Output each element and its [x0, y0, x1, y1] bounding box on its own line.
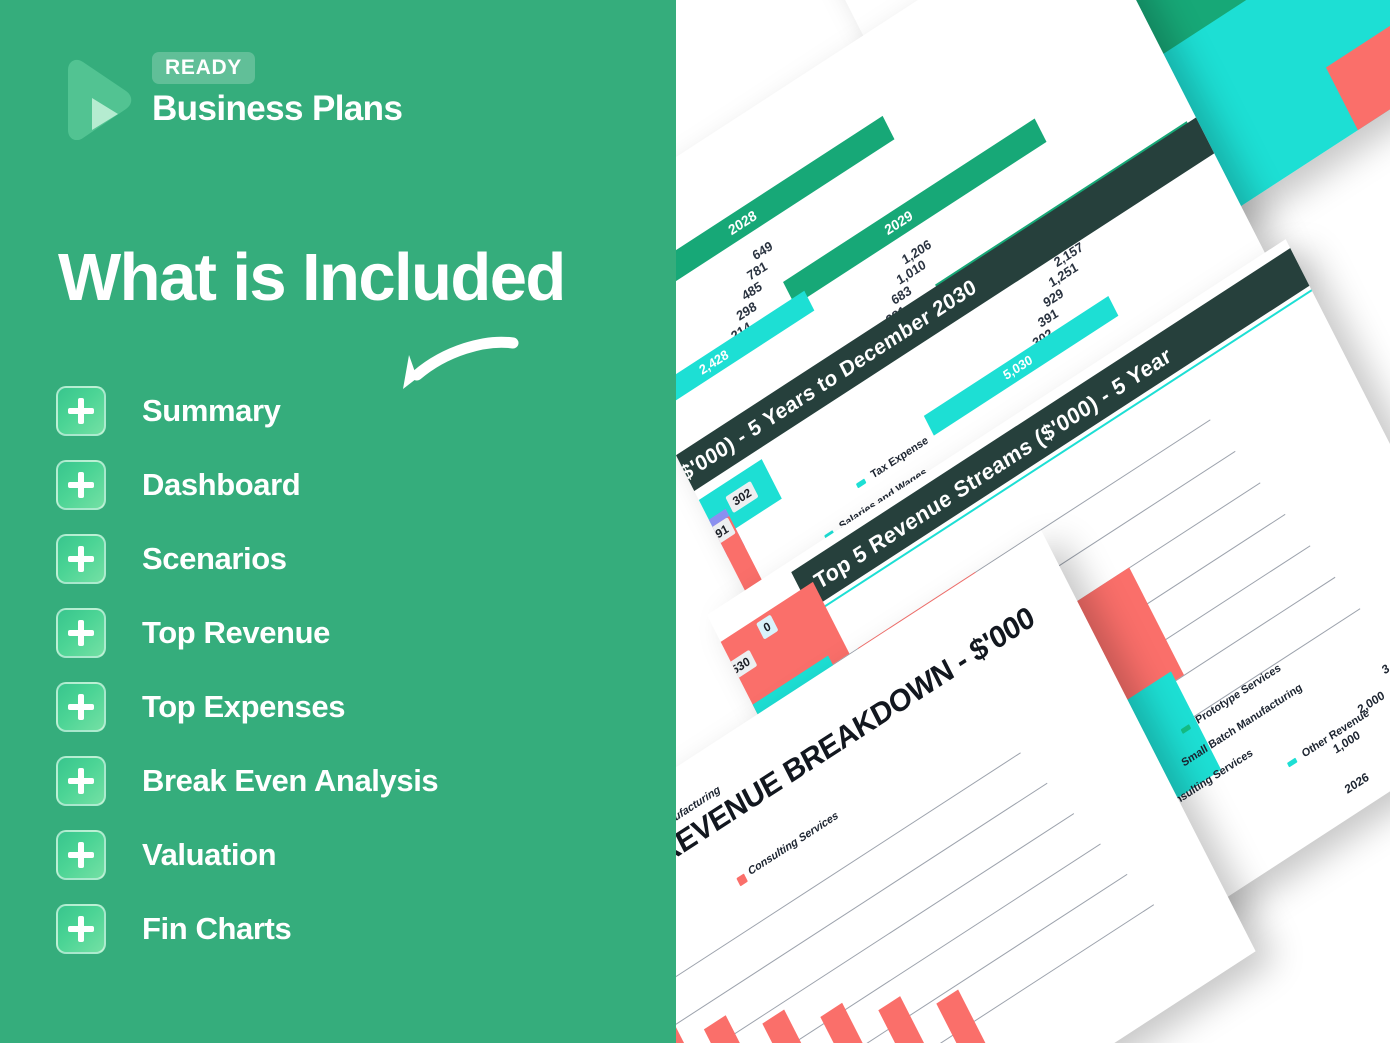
list-item[interactable]: Top Revenue	[56, 608, 656, 658]
poster-canvas: ame e of Contents 2028 2029 2030 649 781…	[0, 0, 1390, 1043]
page-title: What is Included	[58, 243, 618, 313]
legend-prototype-services: Prototype Services	[1194, 662, 1283, 727]
line-year-2026: 2026	[1342, 770, 1371, 797]
line-tick-2000: 2,000	[1355, 688, 1387, 717]
legend-marker-breakdown-consulting	[736, 873, 748, 886]
breakdown-bar-red-6	[820, 1003, 878, 1043]
plus-icon	[56, 608, 106, 658]
plus-icon	[56, 682, 106, 732]
brand-name: Business Plans	[152, 91, 402, 128]
list-item[interactable]: Top Expenses	[56, 682, 656, 732]
line-tick-3000: 3,000	[1380, 648, 1390, 677]
plus-icon	[56, 830, 106, 880]
list-item[interactable]: Break Even Analysis	[56, 756, 656, 806]
brand-logo[interactable]: READY Business Plans	[60, 52, 490, 152]
brand-text: READY Business Plans	[152, 52, 402, 128]
breakdown-bar-red-5	[762, 1009, 819, 1043]
list-item[interactable]: Summary	[56, 386, 656, 436]
plus-icon	[56, 534, 106, 584]
legend-marker-tax-expense	[856, 478, 867, 488]
list-item[interactable]: Valuation	[56, 830, 656, 880]
feature-label-top-expenses: Top Expenses	[142, 689, 345, 725]
legend-breakdown-consulting: Consulting Services	[746, 810, 840, 878]
list-item[interactable]: Fin Charts	[56, 904, 656, 954]
ready-badge: READY	[152, 52, 255, 84]
feature-label-fin-charts: Fin Charts	[142, 911, 291, 947]
plus-icon	[56, 460, 106, 510]
feature-label-summary: Summary	[142, 393, 281, 429]
feature-list: Summary Dashboard Scenarios Top Revenue …	[56, 386, 656, 978]
feature-label-valuation: Valuation	[142, 837, 276, 873]
plus-icon	[56, 386, 106, 436]
feature-label-scenarios: Scenarios	[142, 541, 287, 577]
legend-marker-other-revenue	[1287, 758, 1298, 768]
left-green-panel: READY Business Plans What is Included Su…	[0, 0, 676, 1043]
breakdown-bar-red-8	[936, 989, 996, 1043]
list-item[interactable]: Dashboard	[56, 460, 656, 510]
breakdown-bar-red-4	[704, 1015, 760, 1043]
plus-icon	[56, 904, 106, 954]
spreadsheet-collage: ame e of Contents 2028 2029 2030 649 781…	[620, 0, 1390, 1043]
play-triangle-icon	[60, 58, 134, 140]
plus-icon	[56, 756, 106, 806]
list-item[interactable]: Scenarios	[56, 534, 656, 584]
feature-label-break-even-analysis: Break Even Analysis	[142, 763, 438, 799]
feature-label-dashboard: Dashboard	[142, 467, 300, 503]
feature-label-top-revenue: Top Revenue	[142, 615, 330, 651]
